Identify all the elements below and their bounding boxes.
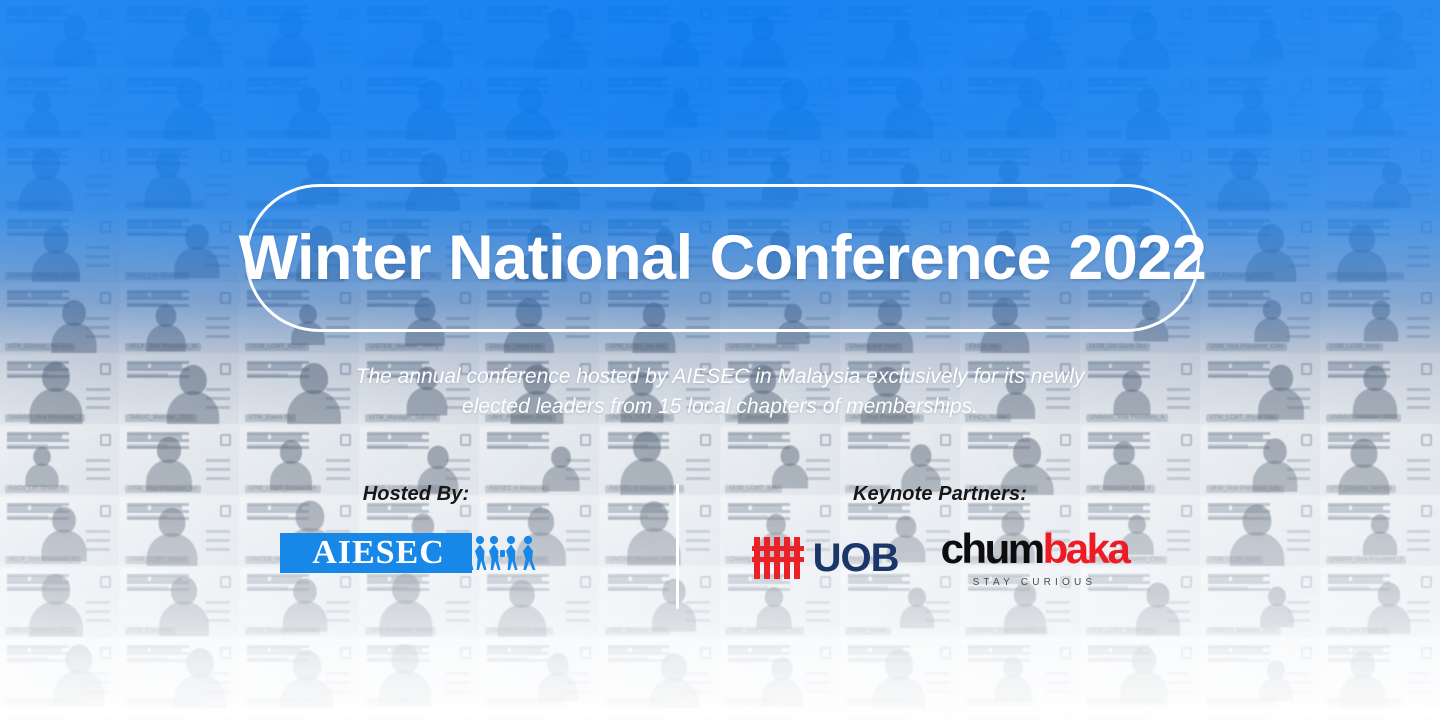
- poster-content: Winter National Conference 2022 The annu…: [0, 0, 1440, 720]
- chumbaka-tagline: STAY CURIOUS: [941, 577, 1129, 588]
- keynote-partners-label: Keynote Partners:: [716, 483, 1164, 506]
- chumbaka-word-dark: chum: [941, 525, 1043, 572]
- hosted-by-section: Hosted By: AIESEC: [196, 483, 636, 573]
- page-title: Winter National Conference 2022: [239, 227, 1207, 290]
- aiesec-wordmark: AIESEC: [280, 533, 472, 573]
- aiesec-logo: AIESEC: [280, 533, 553, 573]
- keynote-partners-section: Keynote Partners: U: [716, 483, 1164, 588]
- title-frame: Winter National Conference 2022: [245, 184, 1200, 332]
- aiesec-people-icon: [448, 535, 553, 571]
- hosted-by-label: Hosted By:: [196, 483, 636, 506]
- uob-bars-icon: [752, 535, 804, 581]
- vertical-divider: [676, 484, 679, 609]
- partner-logo-row: UOB chumbaka STAY CURIOUS: [716, 528, 1164, 588]
- chumbaka-logo: chumbaka STAY CURIOUS: [941, 528, 1129, 588]
- chumbaka-wordmark: chumbaka: [941, 528, 1129, 570]
- conference-poster: UTM_LCMT_Bryan YapUNIMAS_Member_2022FinC…: [0, 0, 1440, 720]
- uob-wordmark: UOB: [813, 538, 899, 578]
- uob-logo: UOB: [752, 535, 899, 581]
- chumbaka-word-red: baka: [1043, 525, 1129, 572]
- subtitle-text: The annual conference hosted by AIESEC i…: [325, 362, 1115, 422]
